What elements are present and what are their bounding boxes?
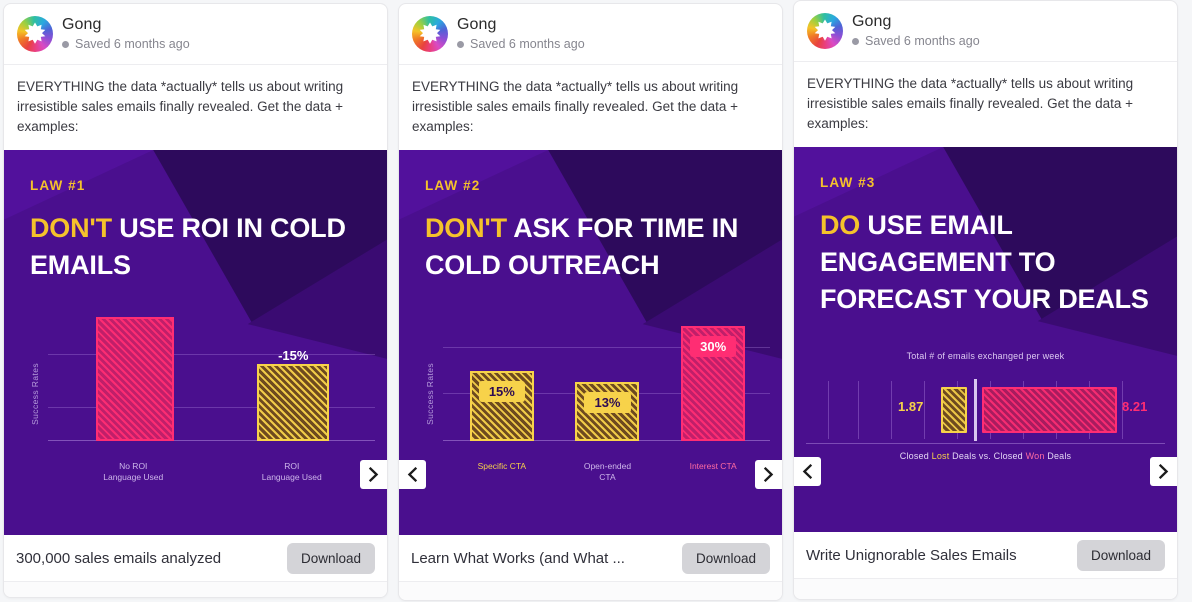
- headline-highlight: DON'T: [425, 213, 507, 243]
- bar-item: [96, 317, 174, 441]
- chart-title: Total # of emails exchanged per week: [794, 351, 1177, 361]
- headline-rest: USE EMAIL ENGAGEMENT TO FORECAST YOUR DE…: [820, 210, 1149, 314]
- chart-card-2: Success Rates 15% 13%: [399, 315, 782, 535]
- headline-highlight: DO: [820, 210, 860, 240]
- saved-label: Saved 6 months ago: [470, 37, 585, 52]
- bar-roi: -15%: [257, 364, 329, 441]
- legend-won: Won: [1026, 451, 1045, 461]
- next-slide-button[interactable]: [755, 460, 782, 489]
- legend-part-2: Deals vs. Closed: [949, 451, 1025, 461]
- x-label: Specific CTA: [452, 461, 552, 483]
- resource-title: 300,000 sales emails analyzed: [16, 550, 221, 567]
- post-card[interactable]: Gong Saved 6 months ago EVERYTHING the d…: [3, 3, 388, 598]
- prev-slide-button[interactable]: [794, 457, 821, 486]
- chart-card-1: Success Rates -15% No ROILanguage Use: [4, 315, 387, 535]
- legend-lost: Lost: [932, 451, 950, 461]
- bar-item: 30%: [681, 326, 745, 441]
- status-dot-icon: [457, 41, 464, 48]
- vertical-gridline: [828, 381, 829, 439]
- resource-title: Write Unignorable Sales Emails: [806, 547, 1017, 564]
- download-button[interactable]: Download: [1077, 540, 1165, 571]
- value-label-won: 8.21: [1122, 399, 1147, 414]
- post-card[interactable]: Gong Saved 6 months ago EVERYTHING the d…: [793, 0, 1178, 600]
- x-label: Open-endedCTA: [557, 461, 657, 483]
- vertical-gridline: [924, 381, 925, 439]
- x-label: Interest CTA: [663, 461, 763, 483]
- chart-legend: Closed Lost Deals vs. Closed Won Deals: [794, 451, 1177, 461]
- bar-specific-cta: 15%: [470, 371, 534, 441]
- brand-name: Gong: [457, 16, 585, 34]
- center-axis-tick: [974, 379, 977, 441]
- brand-name: Gong: [62, 16, 190, 34]
- vertical-gridline: [858, 381, 859, 439]
- status-dot-icon: [62, 41, 69, 48]
- bar-item: 13%: [575, 382, 639, 441]
- bar-no-roi: [96, 317, 174, 441]
- chevron-left-icon: [801, 464, 814, 479]
- slide-headline: DON'T ASK FOR TIME IN COLD OUTREACH: [425, 210, 756, 284]
- chevron-right-icon: [762, 467, 775, 482]
- bars-group: -15%: [54, 311, 371, 441]
- saved-label: Saved 6 months ago: [865, 34, 980, 49]
- resource-title: Learn What Works (and What ...: [411, 550, 625, 567]
- bar-value-label: 30%: [690, 336, 736, 357]
- value-label-lost: 1.87: [898, 399, 923, 414]
- post-description: EVERYTHING the data *actually* tells us …: [4, 65, 387, 150]
- baseline: [806, 443, 1165, 444]
- slide-media[interactable]: LAW #1 DON'T USE ROI IN COLD EMAILS Succ…: [4, 150, 387, 535]
- legend-part-1: Closed: [900, 451, 932, 461]
- slide-media[interactable]: LAW #2 DON'T ASK FOR TIME IN COLD OUTREA…: [399, 150, 782, 535]
- chart-card-3: Total # of emails exchanged per week 1.8…: [794, 337, 1177, 532]
- card-footer: Learn What Works (and What ... Download: [399, 535, 782, 582]
- card-footer: Write Unignorable Sales Emails Download: [794, 532, 1177, 579]
- x-axis-labels: Specific CTA Open-endedCTA Interest CTA: [449, 461, 766, 483]
- post-description: EVERYTHING the data *actually* tells us …: [399, 65, 782, 150]
- bar-item: 15%: [470, 371, 534, 441]
- prev-slide-button[interactable]: [399, 460, 426, 489]
- chevron-right-icon: [367, 467, 380, 482]
- slide-headline: DON'T USE ROI IN COLD EMAILS: [30, 210, 361, 284]
- slide-media[interactable]: LAW #3 DO USE EMAIL ENGAGEMENT TO FORECA…: [794, 147, 1177, 532]
- headline-highlight: DON'T: [30, 213, 112, 243]
- slide-headline: DO USE EMAIL ENGAGEMENT TO FORECAST YOUR…: [820, 207, 1151, 318]
- gong-logo-icon: [412, 16, 448, 52]
- legend-part-3: Deals: [1045, 451, 1072, 461]
- bar-closed-won: [982, 387, 1117, 433]
- saved-status: Saved 6 months ago: [62, 37, 190, 52]
- x-label: ROILanguage Used: [242, 461, 342, 483]
- x-axis-labels: No ROILanguage Used ROILanguage Used: [54, 461, 371, 483]
- card-tail: [4, 582, 387, 598]
- x-label: No ROILanguage Used: [83, 461, 183, 483]
- saved-status: Saved 6 months ago: [457, 37, 585, 52]
- vertical-gridline: [891, 381, 892, 439]
- gong-logo-icon: [807, 13, 843, 49]
- gong-logo-icon: [17, 16, 53, 52]
- chevron-right-icon: [1157, 464, 1170, 479]
- y-axis-label: Success Rates: [425, 363, 435, 425]
- bar-value-label: 13%: [584, 392, 630, 413]
- card-footer: 300,000 sales emails analyzed Download: [4, 535, 387, 582]
- bar-open-ended-cta: 13%: [575, 382, 639, 441]
- bar-interest-cta: 30%: [681, 326, 745, 441]
- card-header: Gong Saved 6 months ago: [4, 4, 387, 65]
- card-header: Gong Saved 6 months ago: [794, 1, 1177, 62]
- bar-value-label: -15%: [278, 348, 308, 363]
- card-tail: [399, 582, 782, 601]
- brand-name: Gong: [852, 13, 980, 31]
- download-button[interactable]: Download: [682, 543, 770, 574]
- slide-law-label: LAW #1: [30, 178, 361, 193]
- post-description: EVERYTHING the data *actually* tells us …: [794, 62, 1177, 147]
- bar-item: -15%: [257, 364, 329, 441]
- slide-law-label: LAW #2: [425, 178, 756, 193]
- download-button[interactable]: Download: [287, 543, 375, 574]
- bar-value-label: 15%: [479, 381, 525, 402]
- bar-closed-lost: [941, 387, 967, 433]
- post-card[interactable]: Gong Saved 6 months ago EVERYTHING the d…: [398, 3, 783, 601]
- saved-status: Saved 6 months ago: [852, 34, 980, 49]
- card-tail: [794, 579, 1177, 600]
- chevron-left-icon: [406, 467, 419, 482]
- y-axis-label: Success Rates: [30, 363, 40, 425]
- next-slide-button[interactable]: [1150, 457, 1177, 486]
- saved-posts-board: Gong Saved 6 months ago EVERYTHING the d…: [0, 0, 1192, 602]
- saved-label: Saved 6 months ago: [75, 37, 190, 52]
- card-header: Gong Saved 6 months ago: [399, 4, 782, 65]
- status-dot-icon: [852, 38, 859, 45]
- plot-area: 1.87 8.21: [806, 381, 1165, 439]
- bars-group: 15% 13% 30%: [449, 311, 766, 441]
- slide-law-label: LAW #3: [820, 175, 1151, 190]
- next-slide-button[interactable]: [360, 460, 387, 489]
